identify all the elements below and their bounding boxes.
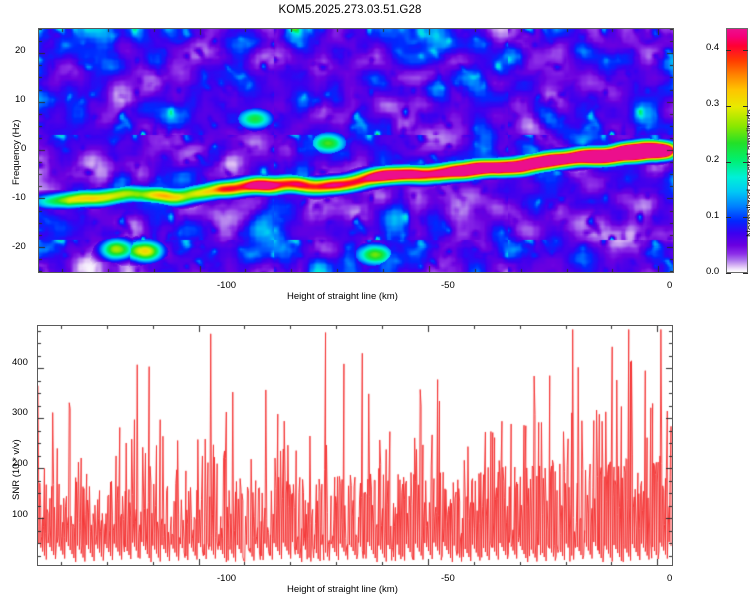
colorbar-tick-mark [726,273,731,274]
spec-ytick-20: 20 [15,45,26,56]
colorbar-tick-mark [743,273,748,274]
figure-root: KOM5.2025.273.03.51.G28 20 10 0 -10 -20 … [0,0,750,600]
colorbar-tick-2: 0.2 [706,154,719,165]
snr-ytick-300: 300 [12,407,28,418]
colorbar-tick-mark [726,106,731,107]
spec-x-axis-label: Height of straight line (km) [287,291,398,302]
snr-xtick-0: 0 [667,573,672,584]
spec-ytick-10: 10 [15,94,26,105]
colorbar-tick-mark [743,217,748,218]
snr-xtick-neg100: -100 [217,573,236,584]
snr-y-axis-label: SNR (10 * v/v) [11,439,22,500]
snr-ytick-400: 400 [12,357,28,368]
spec-xtick-neg100: -100 [217,280,236,291]
spectrogram-image [39,29,673,272]
colorbar-tick-3: 0.3 [706,98,719,109]
spec-xtick-0: 0 [667,280,672,291]
spectrogram-panel [38,28,674,273]
colorbar-tick-mark [726,50,731,51]
figure-title: KOM5.2025.273.03.51.G28 [0,4,700,16]
colorbar-tick-mark [743,106,748,107]
spec-y-axis-label: Frequency (Hz) [11,120,22,185]
snr-ytick-100: 100 [12,509,28,520]
colorbar-tick-mark [743,162,748,163]
snr-x-axis-label: Height of straight line (km) [287,584,398,595]
snr-trace [38,326,672,565]
colorbar-tick-mark [743,50,748,51]
colorbar-tick-mark [726,162,731,163]
colorbar-tick-mark [726,217,731,218]
colorbar-tick-0: 0.0 [706,266,719,277]
snr-panel [37,325,673,566]
spec-ytick-neg10: -10 [12,192,26,203]
colorbar-tick-4: 0.4 [706,42,719,53]
spec-xtick-neg50: -50 [441,280,455,291]
colorbar-tick-1: 0.1 [706,210,719,221]
spec-ytick-neg20: -20 [12,241,26,252]
snr-xtick-neg50: -50 [441,573,455,584]
